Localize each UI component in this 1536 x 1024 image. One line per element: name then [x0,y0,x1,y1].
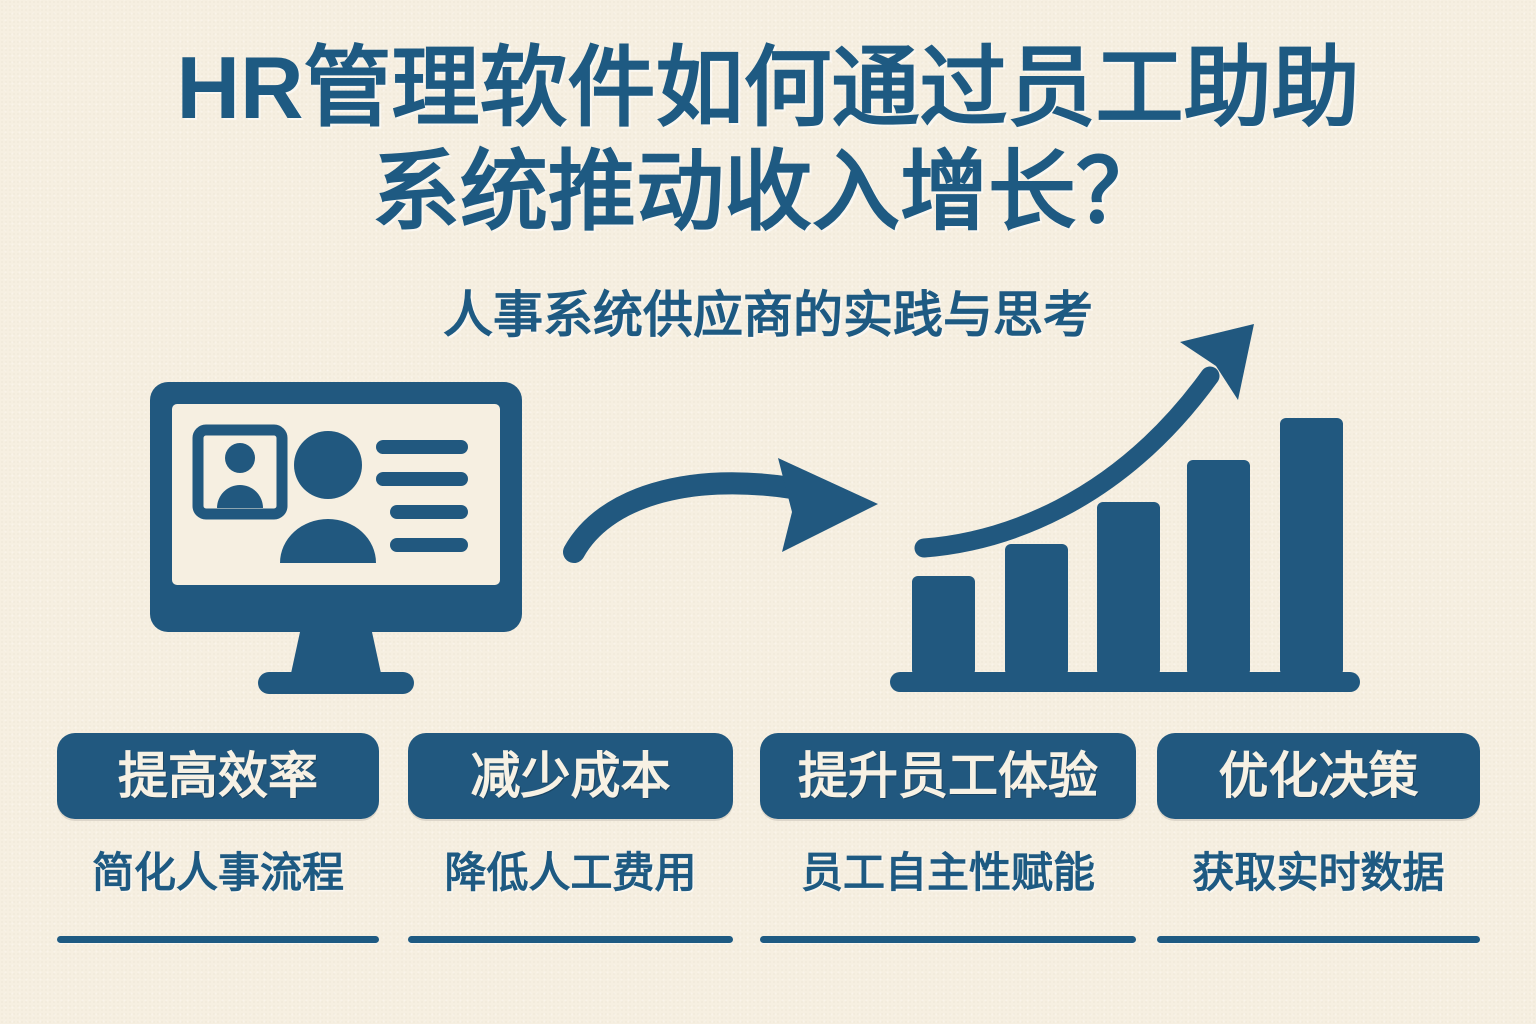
benefit-rule-3 [1157,936,1480,943]
benefit-rule-row [0,936,1536,948]
benefit-pill-0[interactable]: 提高效率 [57,733,379,819]
benefit-pill-label-1: 减少成本 [471,750,671,802]
benefit-pill-row: 提高效率 减少成本 提升员工体验 优化决策 [0,733,1536,823]
benefit-pill-label-2: 提升员工体验 [798,750,1098,802]
benefit-pill-3[interactable]: 优化决策 [1157,733,1480,819]
infographic-poster: HR管理软件如何通过员工助助 系统推动收入增长？ 人事系统供应商的实践与思考 [0,0,1536,1024]
title-line-1: HR管理软件如何通过员工助助 [0,36,1536,140]
benefit-caption-1: 降低人工费用 [408,845,733,901]
benefit-caption-row: 简化人事流程 降低人工费用 员工自主性赋能 获取实时数据 [0,845,1536,905]
employee-profile-monitor-icon [150,382,522,694]
title-line-2: 系统推动收入增长？ [0,140,1536,244]
benefit-pill-label-3: 优化决策 [1219,750,1419,802]
benefit-rule-2 [760,936,1136,943]
benefit-rule-0 [57,936,379,943]
benefit-pill-label-0: 提高效率 [118,750,318,802]
benefit-caption-3: 获取实时数据 [1157,845,1480,901]
page-title: HR管理软件如何通过员工助助 系统推动收入增长？ [0,36,1536,244]
benefit-pill-2[interactable]: 提升员工体验 [760,733,1136,819]
benefit-caption-0: 简化人事流程 [57,845,379,901]
benefit-pill-1[interactable]: 减少成本 [408,733,733,819]
curved-right-arrow-icon [560,440,890,580]
benefit-rule-1 [408,936,733,943]
benefit-caption-2: 员工自主性赋能 [760,845,1136,901]
growth-bar-chart-icon [880,310,1370,700]
